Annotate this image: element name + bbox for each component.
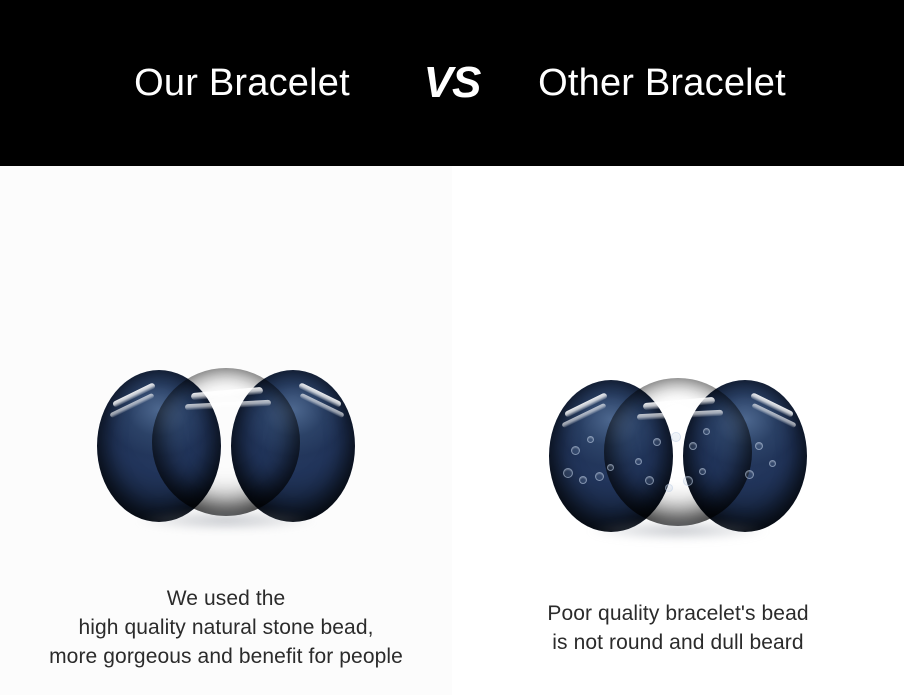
other-bracelet-image <box>452 372 904 572</box>
caption-other-bracelet: Poor quality bracelet's bead is not roun… <box>452 599 904 657</box>
caption-line: Poor quality bracelet's bead <box>452 599 904 628</box>
caption-line: high quality natural stone bead, <box>0 613 452 642</box>
our-bracelet-image <box>0 362 452 562</box>
caption-our-bracelet: We used the high quality natural stone b… <box>0 584 452 671</box>
header-band: Our Bracelet VS Other Bracelet <box>0 0 904 166</box>
caption-line: more gorgeous and benefit for people <box>0 642 452 671</box>
header-title-row: Our Bracelet VS Other Bracelet <box>0 0 904 166</box>
bead-center <box>604 378 752 526</box>
bead-contact-shadow <box>113 510 339 536</box>
bead-contact-shadow <box>565 520 791 546</box>
comparison-body: We used the high quality natural stone b… <box>0 166 904 695</box>
panel-our-bracelet: We used the high quality natural stone b… <box>0 166 452 695</box>
versus-label: VS <box>402 61 502 105</box>
header-title-other-bracelet: Other Bracelet <box>512 64 812 102</box>
panel-other-bracelet: Poor quality bracelet's bead is not roun… <box>452 166 904 695</box>
caption-line: We used the <box>0 584 452 613</box>
comparison-infographic: Our Bracelet VS Other Bracelet <box>0 0 904 695</box>
header-title-our-bracelet: Our Bracelet <box>92 64 392 102</box>
bead-center <box>152 368 300 516</box>
caption-line: is not round and dull beard <box>452 628 904 657</box>
